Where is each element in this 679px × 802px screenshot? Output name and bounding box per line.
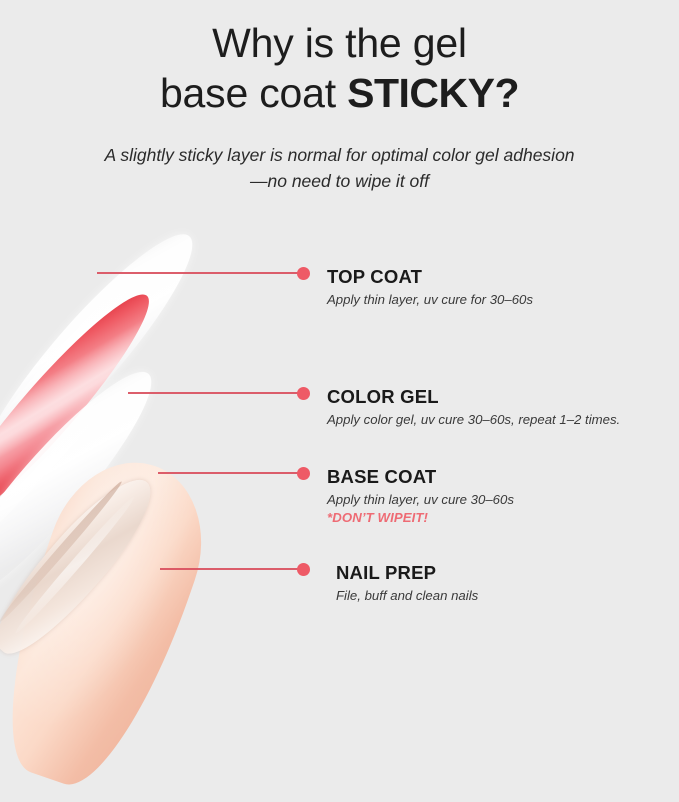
leader-dot-color-gel — [297, 387, 310, 400]
label-top-coat: TOP COAT Apply thin layer, uv cure for 3… — [327, 266, 533, 309]
label-desc-nail-prep: File, buff and clean nails — [336, 586, 478, 605]
title-line-2: base coat STICKY? — [0, 68, 679, 118]
illustration — [0, 195, 300, 679]
label-desc-top-coat: Apply thin layer, uv cure for 30–60s — [327, 290, 533, 309]
page-title: Why is the gel base coat STICKY? — [0, 18, 679, 118]
label-base-coat: BASE COAT Apply thin layer, uv cure 30–6… — [327, 466, 514, 527]
leader-dot-top-coat — [297, 267, 310, 280]
leader-line-base-coat — [158, 472, 304, 474]
title-line-2-emphasis: STICKY? — [347, 70, 519, 116]
title-line-2-prefix: base coat — [160, 70, 347, 116]
leader-dot-base-coat — [297, 467, 310, 480]
label-title-nail-prep: NAIL PREP — [336, 562, 478, 584]
label-warning-base-coat: *DON’T WIPEIT! — [327, 509, 514, 527]
subtitle-line-1: A slightly sticky layer is normal for op… — [30, 142, 649, 168]
label-nail-prep: NAIL PREP File, buff and clean nails — [336, 562, 478, 605]
gel-layers-infographic: Why is the gel base coat STICKY? A sligh… — [0, 0, 679, 679]
leader-line-color-gel — [128, 392, 304, 394]
subtitle: A slightly sticky layer is normal for op… — [30, 142, 649, 194]
label-title-color-gel: COLOR GEL — [327, 386, 620, 408]
leader-line-top-coat — [97, 272, 304, 274]
title-line-1: Why is the gel — [0, 18, 679, 68]
label-title-base-coat: BASE COAT — [327, 466, 514, 488]
subtitle-line-2: —no need to wipe it off — [30, 168, 649, 194]
label-title-top-coat: TOP COAT — [327, 266, 533, 288]
label-desc-color-gel: Apply color gel, uv cure 30–60s, repeat … — [327, 410, 620, 429]
label-color-gel: COLOR GEL Apply color gel, uv cure 30–60… — [327, 386, 620, 429]
leader-line-nail-prep — [160, 568, 304, 570]
leader-dot-nail-prep — [297, 563, 310, 576]
label-desc-base-coat: Apply thin layer, uv cure 30–60s — [327, 490, 514, 509]
